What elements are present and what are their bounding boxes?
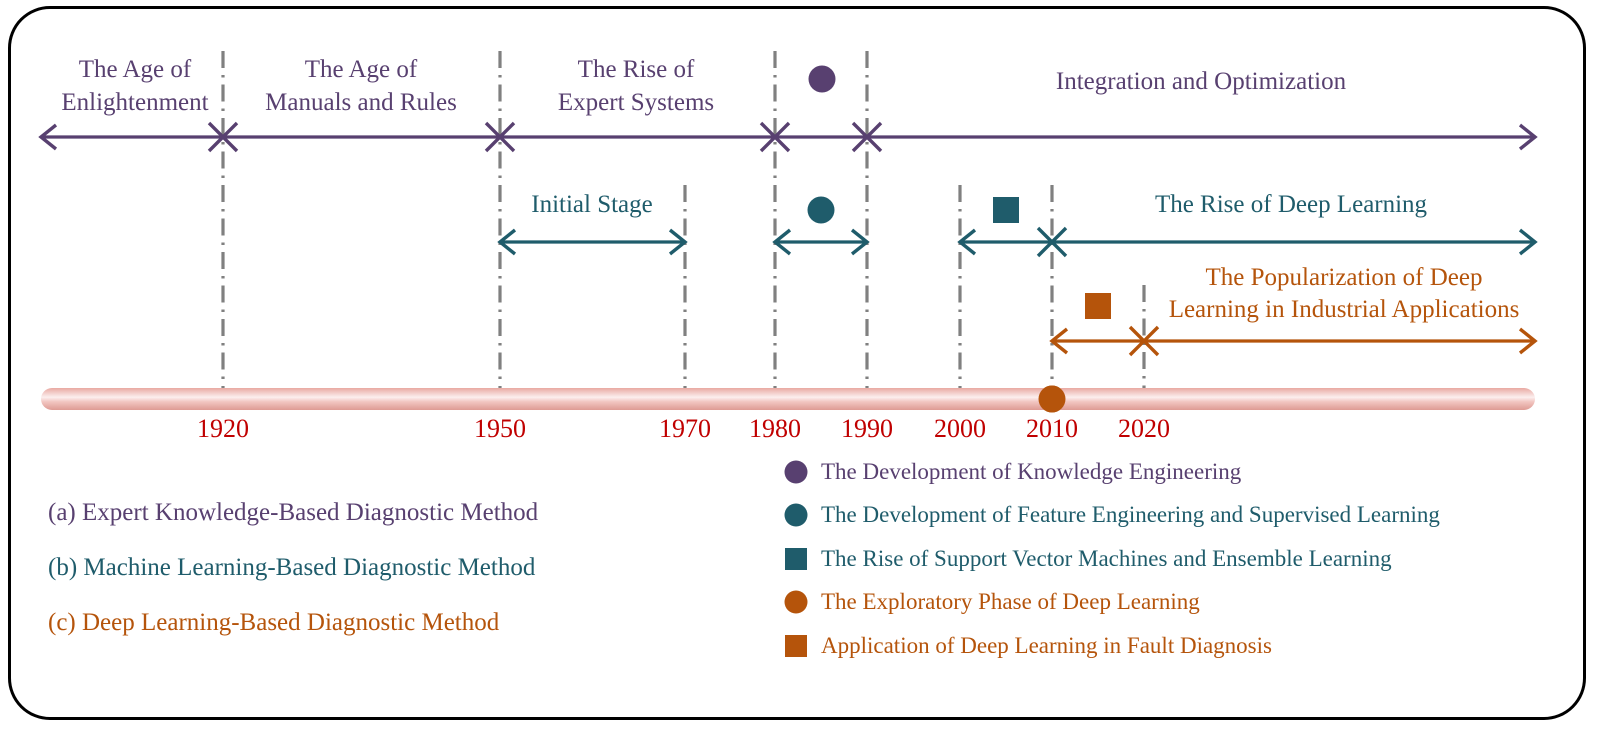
legend: The Development of Knowledge Engineering… (785, 459, 1441, 658)
legend-circle-icon (785, 591, 808, 614)
timeline-diagram: The Age ofEnlightenmentThe Age ofManuals… (11, 9, 1589, 723)
exploratory-deep-learning-marker (1039, 386, 1066, 413)
teal-event-markers (808, 197, 1020, 224)
purple-axis-arrow (41, 125, 1535, 149)
purple-era-labels: The Age ofEnlightenmentThe Age ofManuals… (61, 56, 1346, 116)
legend-item: The Rise of Support Vector Machines and … (785, 546, 1392, 571)
legend-item: The Development of Feature Engineering a… (785, 502, 1441, 527)
era-label-line: Manuals and Rules (265, 89, 457, 116)
year-label: 2000 (934, 414, 986, 443)
legend-circle-icon (785, 461, 808, 484)
orange-segment-arrows (1052, 329, 1535, 353)
year-label: 2010 (1026, 414, 1078, 443)
phase-label: The Rise of Deep Learning (1155, 191, 1428, 218)
era-label-line: Expert Systems (558, 89, 714, 116)
row-caption: (c) Deep Learning-Based Diagnostic Metho… (48, 609, 500, 636)
row-machine-learning: Initial StageThe Rise of Deep Learning (500, 191, 1535, 256)
year-label: 1920 (197, 414, 249, 443)
phase-label: Initial Stage (531, 191, 653, 218)
legend-label: The Development of Feature Engineering a… (821, 502, 1440, 527)
legend-item: Application of Deep Learning in Fault Di… (785, 633, 1272, 658)
phase-label-line: Learning in Industrial Applications (1169, 296, 1520, 323)
purple-event-markers (809, 66, 836, 93)
year-tick-labels: 19201950197019801990200020102020 (197, 414, 1170, 443)
era-label-line: The Rise of (578, 56, 695, 83)
legend-item: The Exploratory Phase of Deep Learning (785, 589, 1201, 614)
year-axis-bar (41, 386, 1535, 413)
year-axis-bar-shape (41, 388, 1535, 410)
legend-label: The Development of Knowledge Engineering (821, 459, 1242, 484)
year-label: 1950 (474, 414, 526, 443)
year-label: 2020 (1118, 414, 1170, 443)
row-caption: (a) Expert Knowledge-Based Diagnostic Me… (48, 499, 539, 526)
teal-phase-labels: Initial StageThe Rise of Deep Learning (531, 191, 1427, 218)
deep-learning-industrial-marker (1085, 293, 1111, 319)
row-captions: (a) Expert Knowledge-Based Diagnostic Me… (48, 499, 539, 636)
teal-segment-arrows (500, 230, 1535, 254)
legend-square-icon (785, 548, 807, 570)
knowledge-engineering-marker (809, 66, 836, 93)
feature-engineering-marker (808, 197, 835, 224)
era-label-line: The Age of (305, 56, 418, 83)
phase-label-line: The Popularization of Deep (1206, 264, 1483, 291)
legend-label: The Rise of Support Vector Machines and … (821, 546, 1392, 571)
legend-label: The Exploratory Phase of Deep Learning (821, 589, 1200, 614)
year-label: 1990 (841, 414, 893, 443)
row-caption: (b) Machine Learning-Based Diagnostic Me… (48, 554, 536, 581)
orange-phase-labels: The Popularization of DeepLearning in In… (1169, 264, 1520, 323)
year-label: 1970 (659, 414, 711, 443)
legend-label: Application of Deep Learning in Fault Di… (821, 633, 1272, 658)
row-expert-knowledge: The Age ofEnlightenmentThe Age ofManuals… (41, 56, 1535, 151)
legend-circle-icon (785, 504, 808, 527)
legend-square-icon (785, 635, 807, 657)
year-label: 1980 (749, 414, 801, 443)
figure-frame: The Age ofEnlightenmentThe Age ofManuals… (8, 6, 1586, 720)
era-label-line: The Age of (79, 56, 192, 83)
legend-item: The Development of Knowledge Engineering (785, 459, 1242, 484)
era-label-line: Integration and Optimization (1056, 68, 1347, 95)
svm-ensemble-marker (993, 197, 1019, 223)
era-label-line: Enlightenment (61, 89, 208, 116)
